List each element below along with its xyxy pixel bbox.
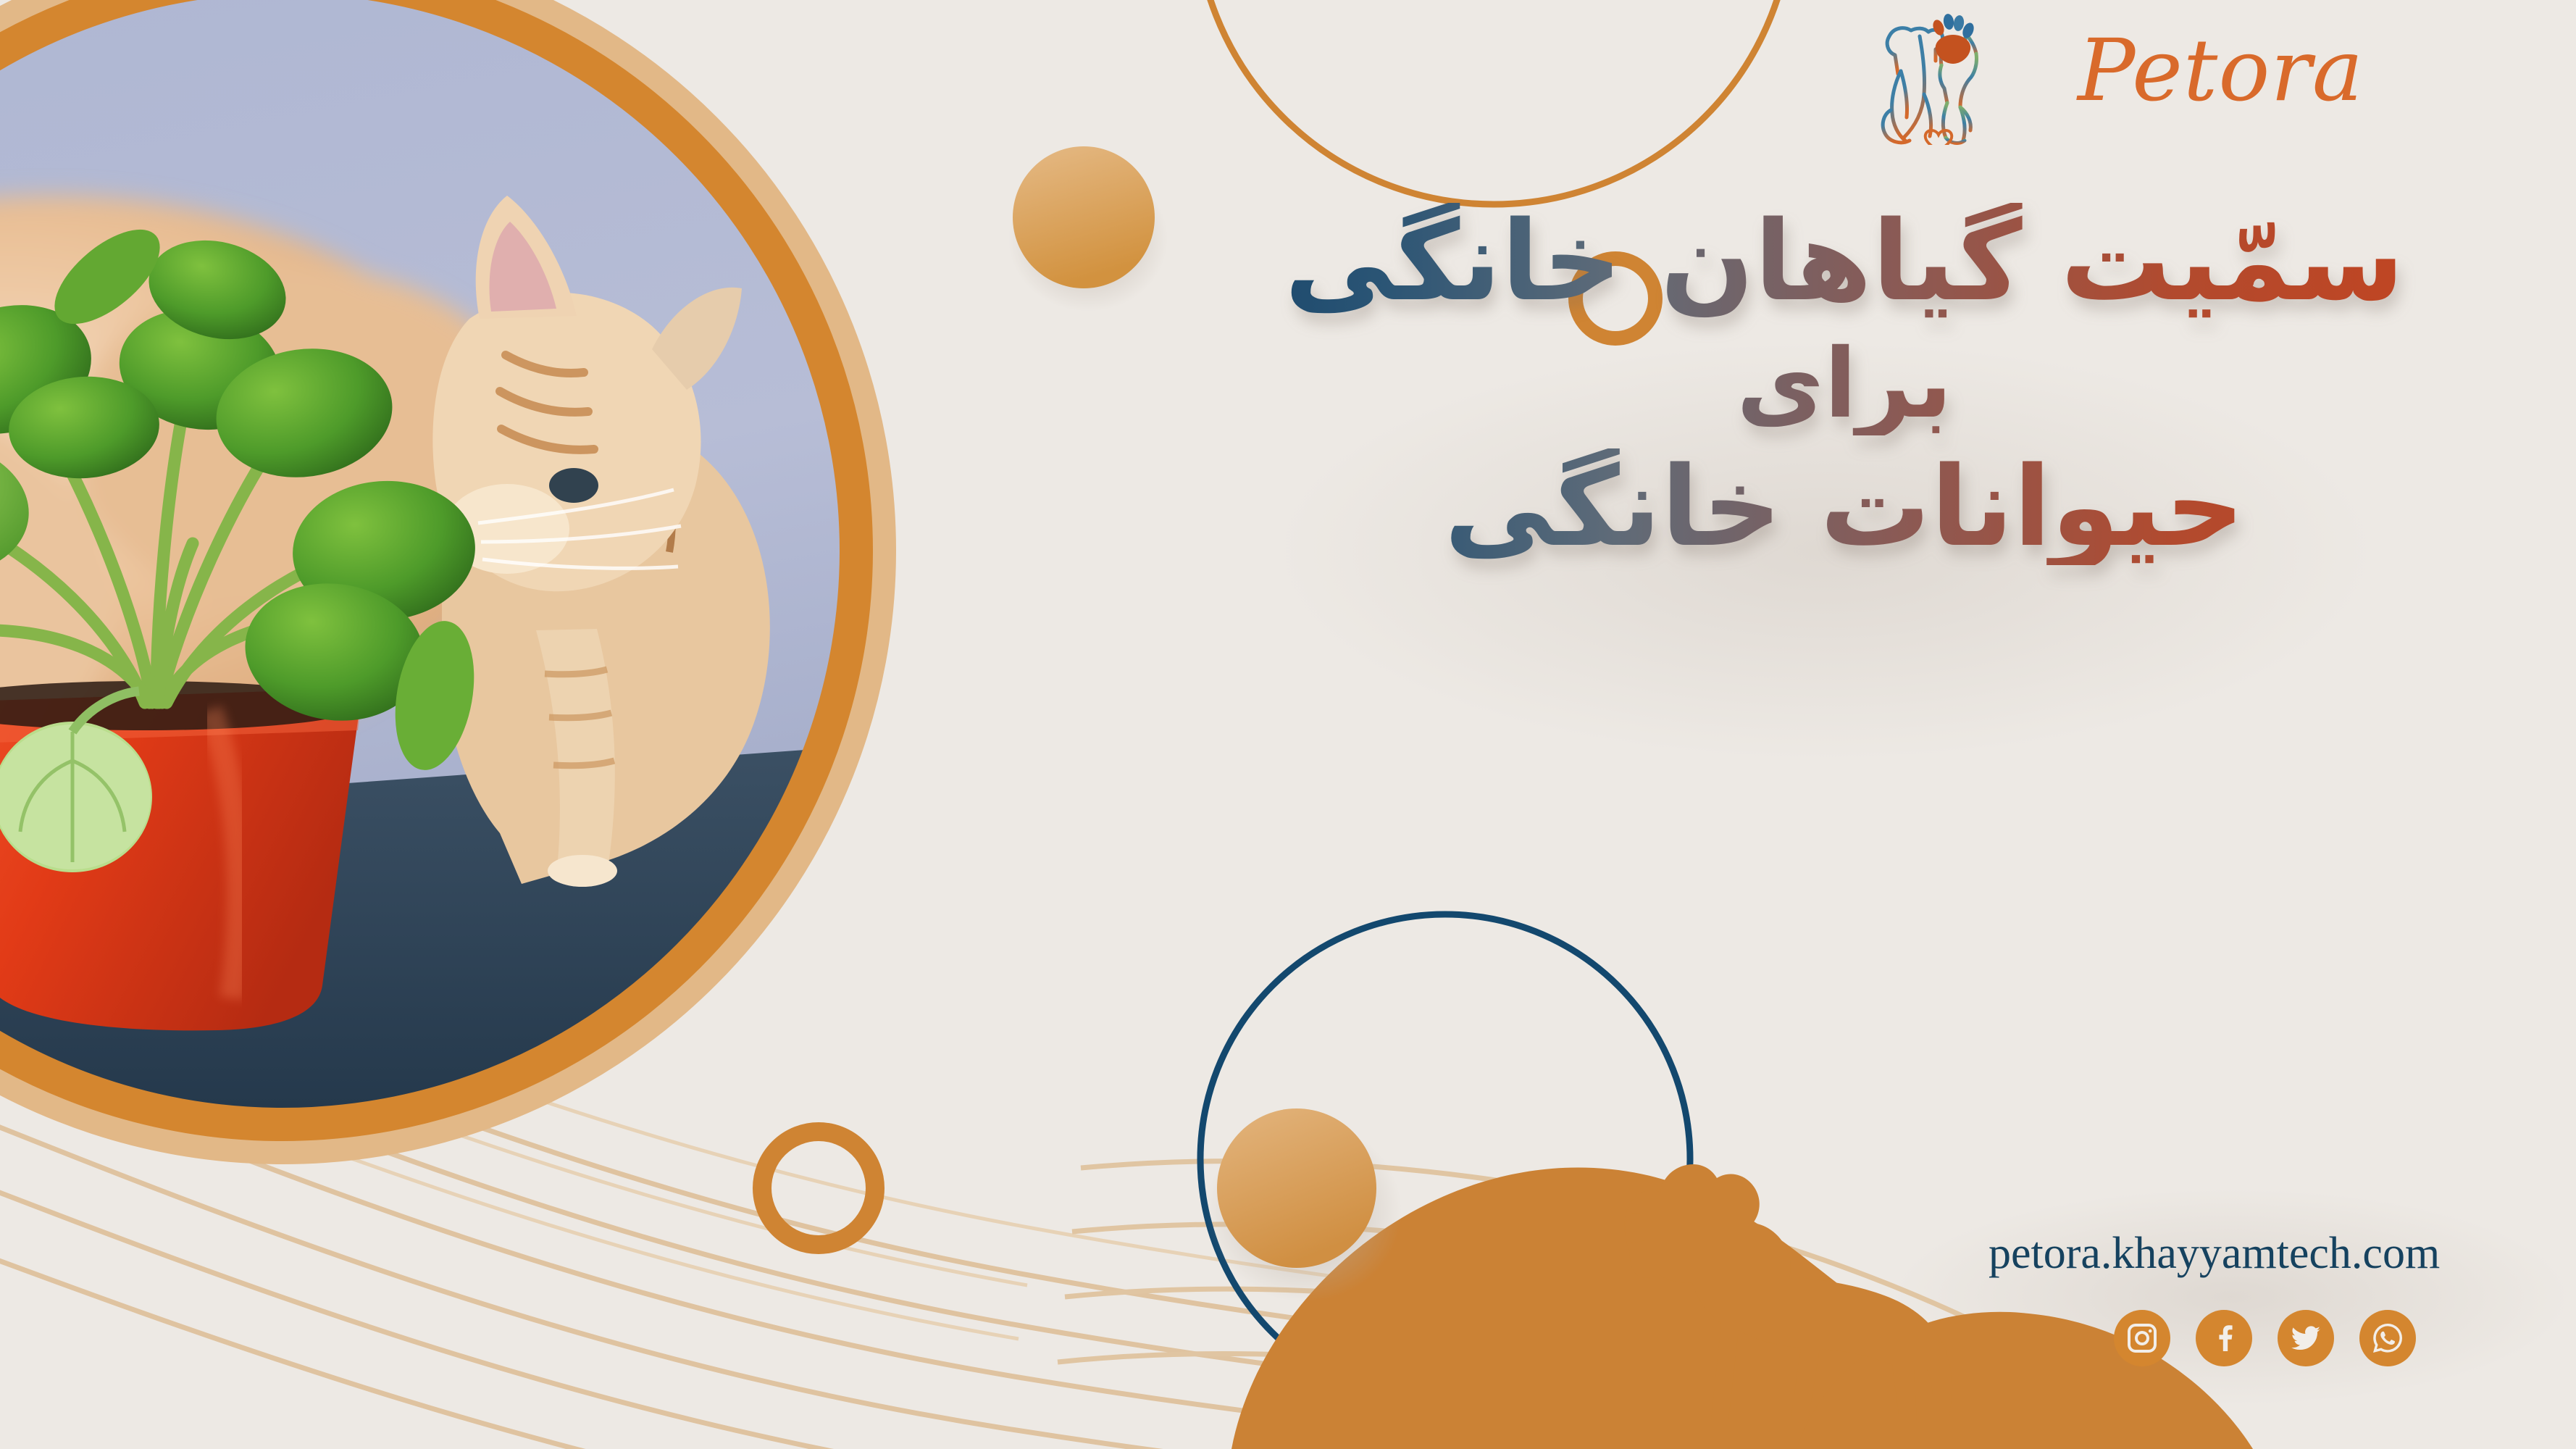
- brand-wordmark: Petora: [2078, 20, 2364, 120]
- dog-cat-paw-icon: [1869, 7, 2108, 145]
- twitter-icon[interactable]: [2278, 1310, 2334, 1366]
- orange-ring-on-frame: [732, 1101, 906, 1275]
- headline-block: سمّیت گیاهان خانگی برای حیوانات خانگی: [1207, 203, 2482, 565]
- website-url[interactable]: petora.khayyamtech.com: [1989, 1228, 2440, 1279]
- whatsapp-icon[interactable]: [2359, 1310, 2416, 1366]
- facebook-icon[interactable]: [2196, 1310, 2252, 1366]
- headline-line-1: سمّیت گیاهان خانگی: [1207, 203, 2482, 320]
- brand-logo[interactable]: Petora: [1869, 7, 2420, 145]
- instagram-icon[interactable]: [2114, 1310, 2170, 1366]
- tan-circle-top: [1013, 146, 1155, 288]
- poster-canvas: سمّیت گیاهان خانگی برای حیوانات خانگی: [0, 0, 2576, 1449]
- frame-ring-inner-tan: [0, 0, 875, 1143]
- photo-medallion: [0, 0, 855, 1123]
- headline-line-2: برای: [1207, 334, 2482, 435]
- photo-frame-rings: [0, 0, 898, 1166]
- headline-line-3: حیوانات خانگی: [1207, 448, 2482, 565]
- social-links: [2114, 1310, 2416, 1366]
- tan-circle-bottom: [1217, 1108, 1376, 1268]
- orange-arc-top: [1195, 0, 1792, 204]
